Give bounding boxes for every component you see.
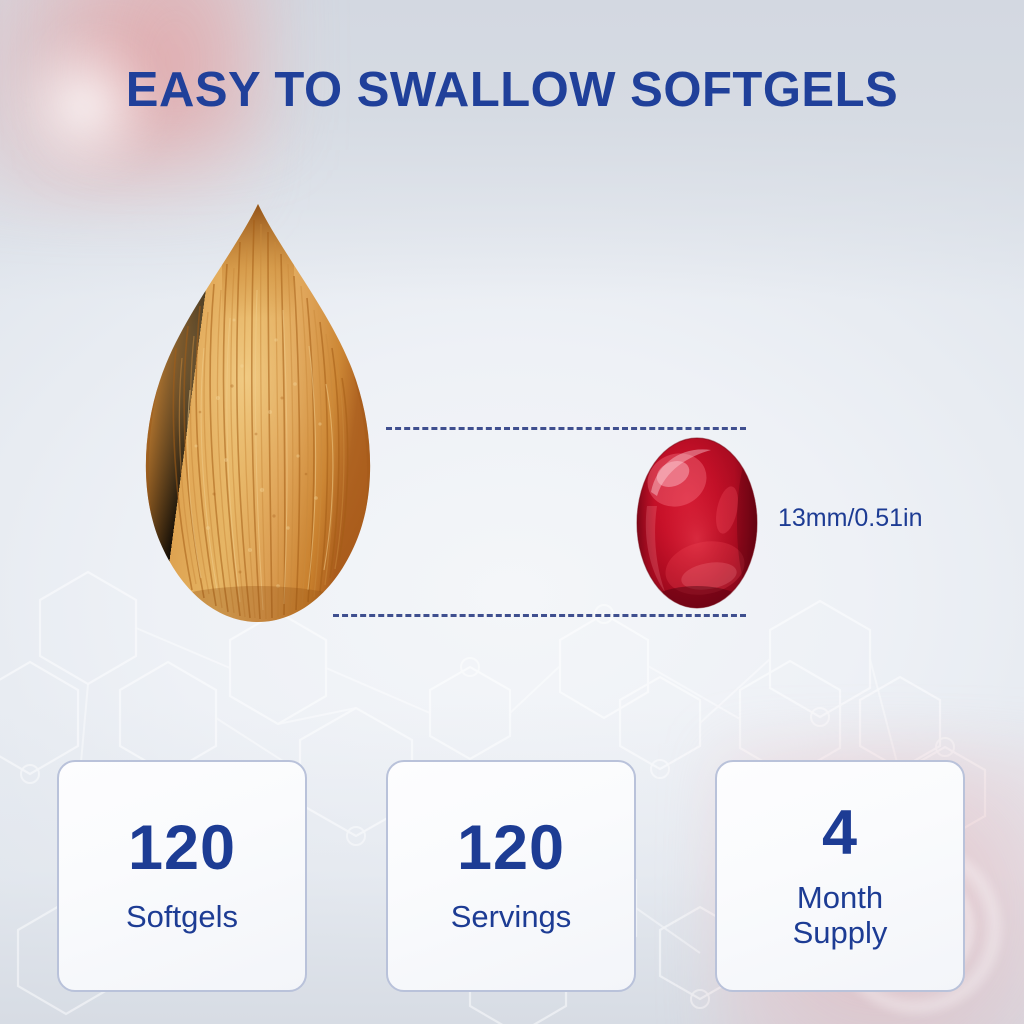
measurement-line-top — [386, 427, 746, 430]
servings-count-card: 120 Servings — [386, 760, 636, 992]
card-label: Month Supply — [793, 881, 888, 950]
card-number: 120 — [457, 817, 565, 880]
card-label: Softgels — [126, 900, 238, 935]
card-label-line-1: Month — [797, 880, 883, 915]
red-softgel-capsule — [635, 436, 759, 610]
card-number: 4 — [822, 802, 858, 865]
page-title: EASY TO SWALLOW SOFTGELS — [0, 62, 1024, 118]
card-label-line-2: Supply — [793, 915, 888, 950]
softgels-count-card: 120 Softgels — [57, 760, 307, 992]
month-supply-card: 4 Month Supply — [715, 760, 965, 992]
stats-card-row: 120 Softgels 120 Servings 4 Month Supply — [57, 760, 965, 992]
measurement-label: 13mm/0.51in — [778, 504, 923, 533]
card-label: Servings — [451, 900, 572, 935]
product-infographic: EASY TO SWALLOW SOFTGELS — [0, 0, 1024, 1024]
measurement-line-bottom — [333, 614, 746, 617]
almond-image — [130, 198, 386, 628]
card-number: 120 — [128, 817, 236, 880]
